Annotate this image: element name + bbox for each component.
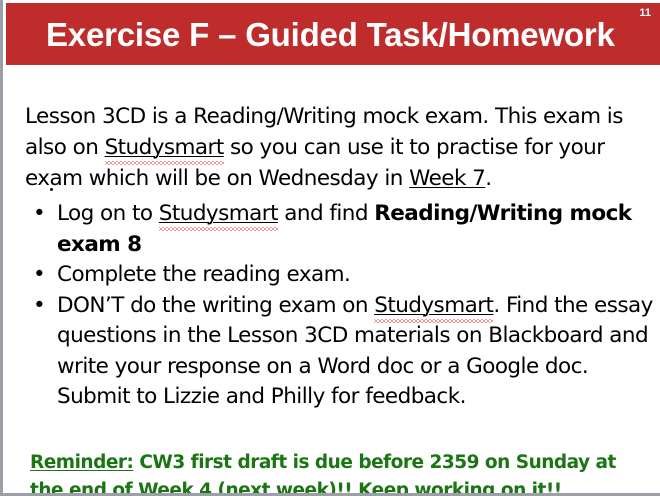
studysmart-link[interactable]: Studysmart [374,293,493,318]
studysmart-link[interactable]: Studysmart [105,135,224,160]
intro-text-segment-3: . [485,166,491,191]
bullet-marker-icon: • [33,260,45,291]
intro-paragraph: Lesson 3CD is a Reading/Writing mock exa… [25,101,650,194]
bullet-text-segment-1: DON’T do the writing exam on [57,293,374,318]
list-item: •Complete the reading exam. [25,260,653,291]
list-item: •Log on to Studysmart and find Reading/W… [25,199,653,260]
task-bullet-list: •Log on to Studysmart and find Reading/W… [25,199,653,413]
reminder-note: Reminder: CW3 first draft is due before … [30,449,650,496]
presentation-slide: Exercise F – Guided Task/Homework 11 Les… [0,0,660,496]
bullet-marker-icon: • [33,199,45,230]
week-7-link[interactable]: Week 7 [409,166,485,191]
slide-title-banner: Exercise F – Guided Task/Homework 11 [6,3,660,65]
stray-dot-artifact [50,188,53,191]
bullet-text-segment-2: and find [278,201,374,226]
list-item: •DON’T do the writing exam on Studysmart… [25,291,653,413]
slide-body: Lesson 3CD is a Reading/Writing mock exa… [6,66,660,493]
page-title: Exercise F – Guided Task/Homework [46,15,621,55]
bullet-text-segment-1: Log on to [57,201,159,226]
bullet-text-segment-1: Complete the reading exam. [57,262,350,287]
reminder-label: Reminder: [30,452,133,473]
studysmart-link[interactable]: Studysmart [159,201,278,226]
bullet-marker-icon: • [33,291,45,322]
slide-page-number: 11 [639,7,651,19]
